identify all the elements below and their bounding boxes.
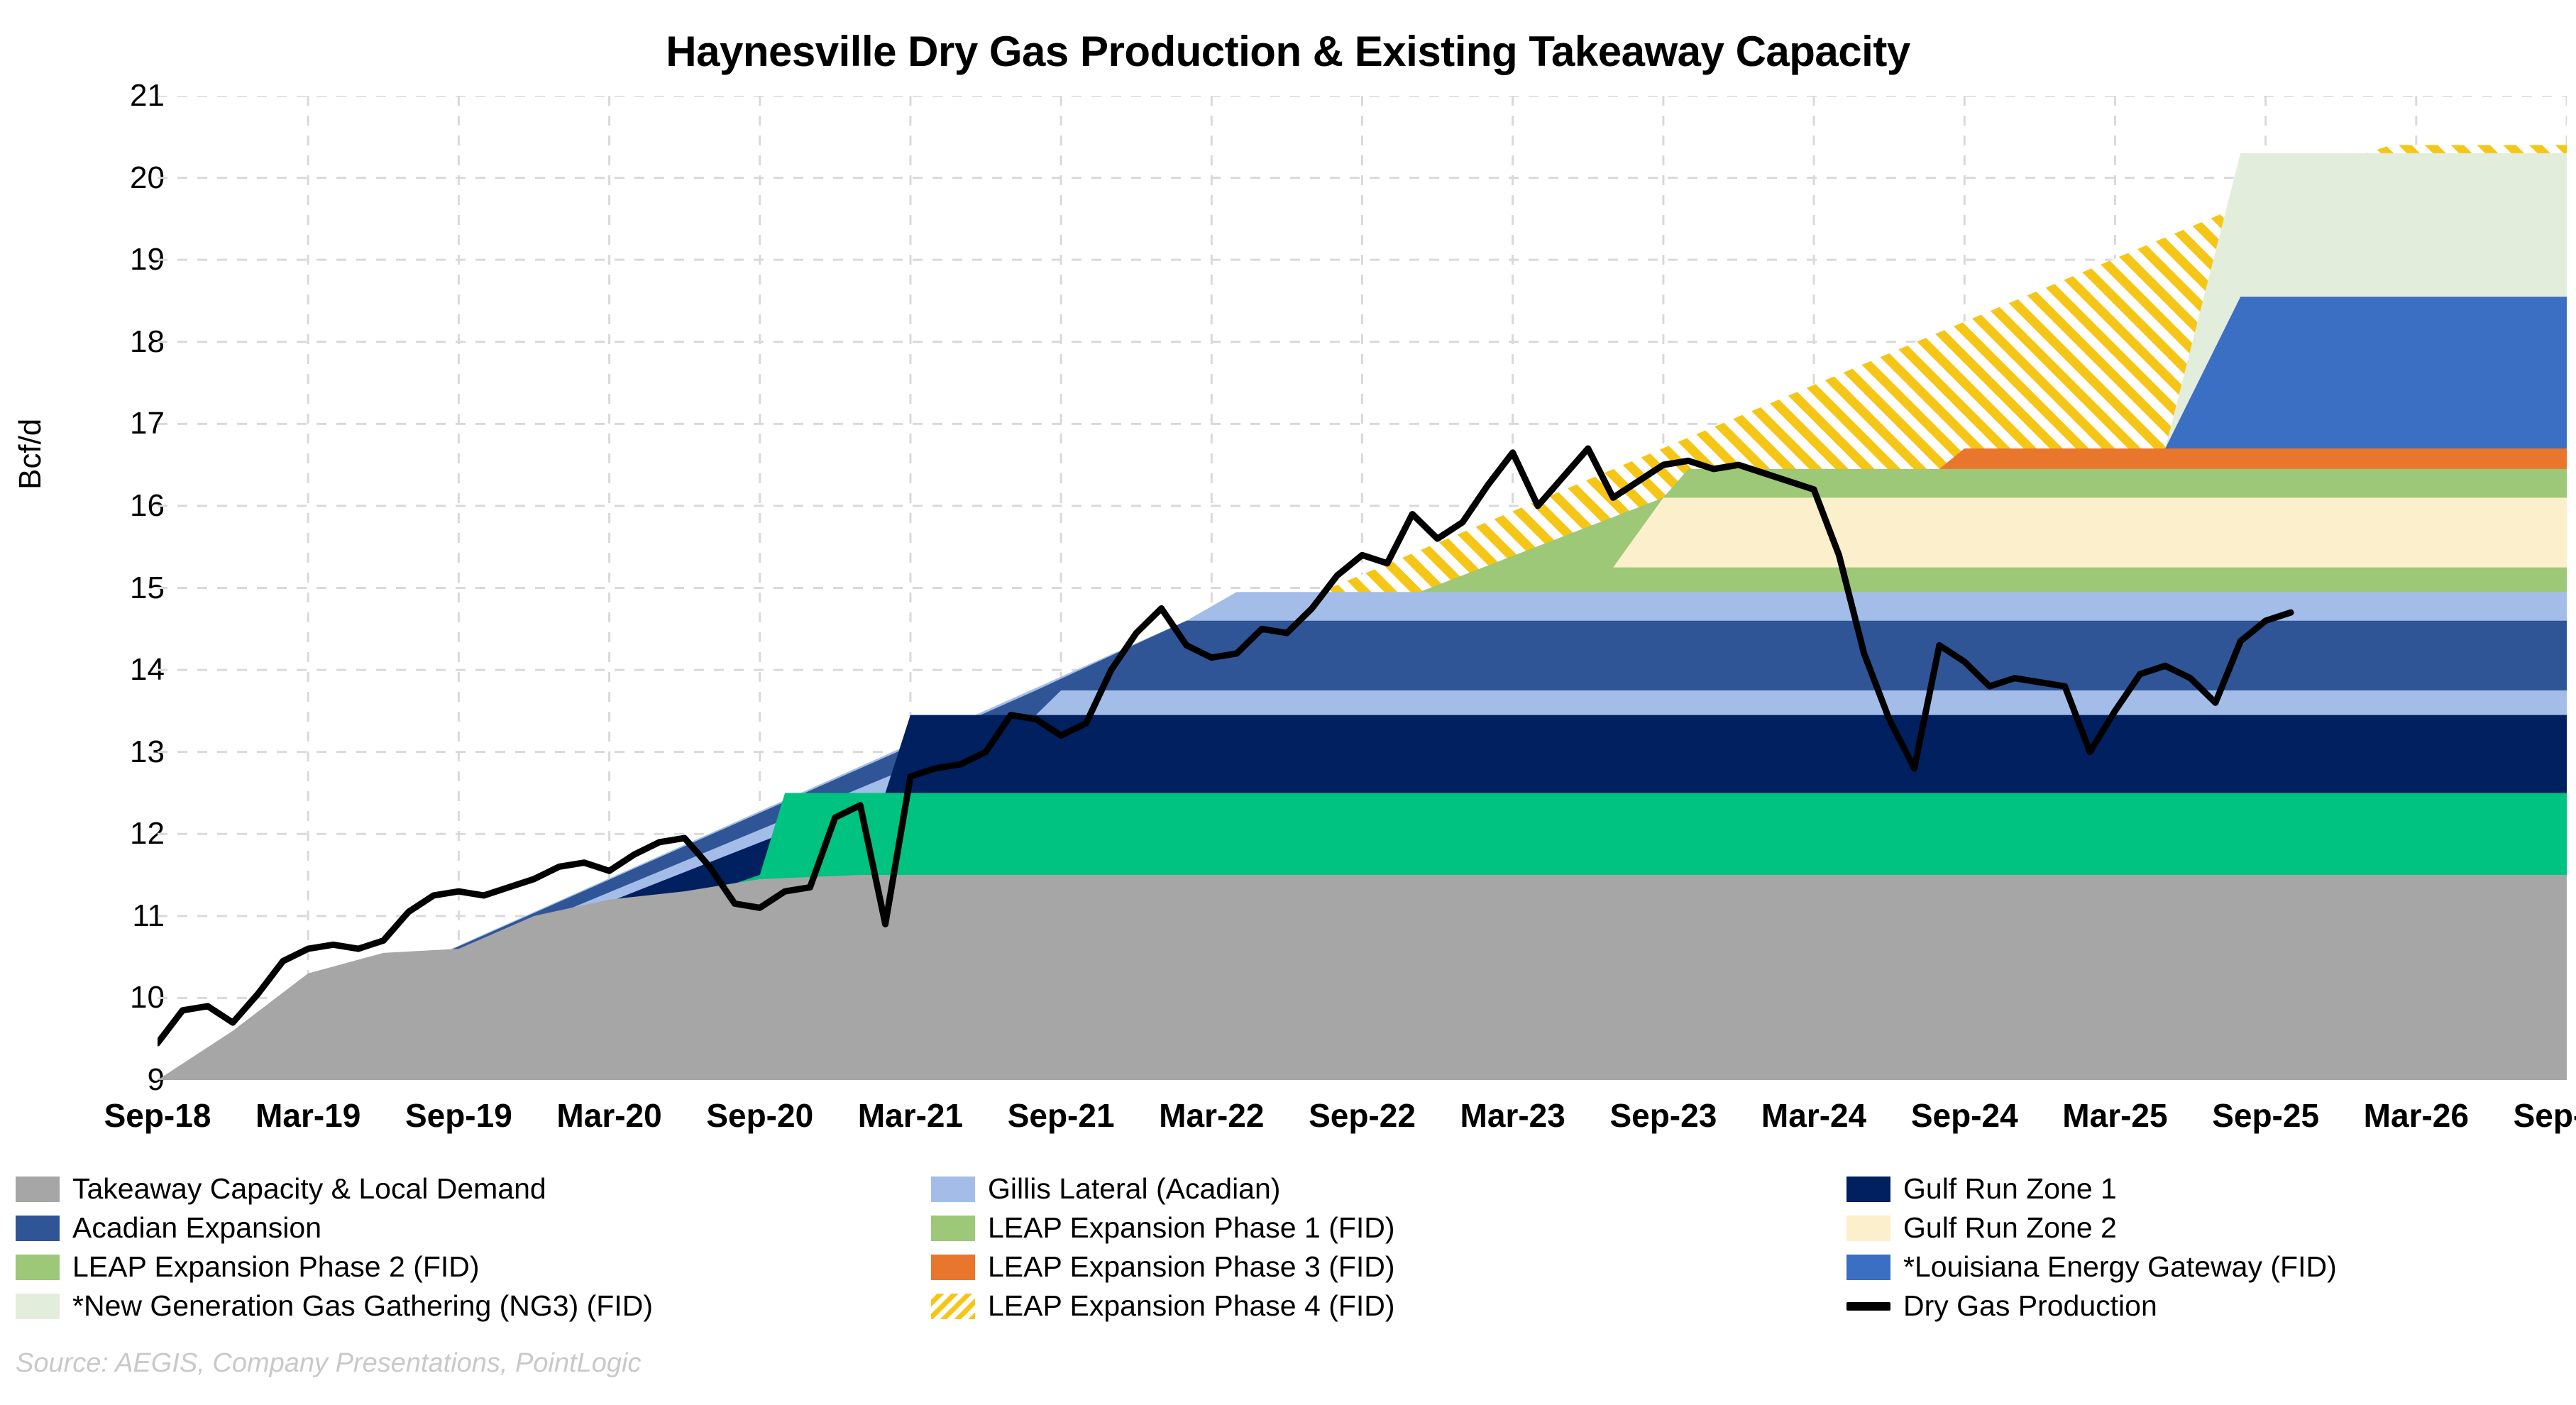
legend-label: *Louisiana Energy Gateway (FID)	[1903, 1250, 2337, 1284]
legend-item[interactable]: Gulf Run Zone 2	[1846, 1211, 2563, 1245]
y-tick-label: 14	[0, 652, 165, 688]
x-tick-label: Sep-23	[1609, 1096, 1717, 1135]
x-tick-label: Mar-21	[858, 1096, 963, 1135]
chart-legend: Takeaway Capacity & Local DemandGillis L…	[16, 1172, 2563, 1328]
legend-item[interactable]: *New Generation Gas Gathering (NG3) (FID…	[16, 1289, 931, 1323]
x-tick-label: Mar-26	[2364, 1096, 2469, 1135]
legend-swatch-leap-p2-green-icon	[16, 1255, 60, 1280]
legend-row: *New Generation Gas Gathering (NG3) (FID…	[16, 1289, 2563, 1323]
legend-swatch-gulf-run-z1-navy-icon	[1846, 1177, 1890, 1202]
y-tick-label: 16	[0, 488, 165, 524]
chart-title: Haynesville Dry Gas Production & Existin…	[0, 27, 2576, 76]
legend-item[interactable]: Acadian Expansion	[16, 1211, 931, 1245]
legend-swatch-acadian-steel-icon	[16, 1216, 60, 1241]
chart-root: Haynesville Dry Gas Production & Existin…	[0, 0, 2576, 1405]
legend-row: LEAP Expansion Phase 2 (FID)LEAP Expansi…	[16, 1250, 2563, 1284]
x-tick-label: Sep-24	[1911, 1096, 2018, 1135]
legend-swatch-leap-p4-yellow-icon	[931, 1294, 975, 1319]
legend-item[interactable]: Gillis Lateral (Acadian)	[931, 1172, 1846, 1206]
x-tick-label: Sep-25	[2212, 1096, 2319, 1135]
y-tick-label: 21	[0, 78, 165, 114]
legend-label: LEAP Expansion Phase 1 (FID)	[988, 1211, 1395, 1245]
legend-item[interactable]: LEAP Expansion Phase 1 (FID)	[931, 1211, 1846, 1245]
x-tick-label: Mar-25	[2062, 1096, 2167, 1135]
x-tick-label: Sep-19	[405, 1096, 512, 1135]
legend-label: LEAP Expansion Phase 2 (FID)	[72, 1250, 480, 1284]
legend-label: LEAP Expansion Phase 3 (FID)	[988, 1250, 1395, 1284]
legend-label: LEAP Expansion Phase 4 (FID)	[988, 1289, 1395, 1323]
stacked-areas	[158, 145, 2567, 1080]
x-tick-label: Sep-20	[706, 1096, 813, 1135]
x-tick-label: Sep-26	[2514, 1096, 2576, 1135]
legend-label: Takeaway Capacity & Local Demand	[72, 1172, 546, 1206]
y-tick-label: 18	[0, 324, 165, 360]
source-note: Source: AEGIS, Company Presentations, Po…	[16, 1348, 642, 1379]
legend-item[interactable]: LEAP Expansion Phase 2 (FID)	[16, 1250, 931, 1284]
legend-swatch-gulf-run-z2-cream-icon	[1846, 1216, 1890, 1241]
y-tick-label: 20	[0, 160, 165, 196]
legend-swatch-leap-p1-green-icon	[931, 1216, 975, 1241]
legend-label: Gulf Run Zone 1	[1903, 1172, 2117, 1206]
y-tick-label: 11	[0, 898, 165, 934]
legend-swatch-takeaway-gray-icon	[16, 1177, 60, 1202]
x-tick-label: Mar-20	[556, 1096, 661, 1135]
legend-label: Gulf Run Zone 2	[1903, 1211, 2117, 1245]
legend-item[interactable]: *Louisiana Energy Gateway (FID)	[1846, 1250, 2563, 1284]
legend-label: Acadian Expansion	[72, 1211, 321, 1245]
legend-swatch-production-line-icon	[1846, 1302, 1890, 1311]
y-tick-label: 9	[0, 1062, 165, 1098]
y-tick-label: 19	[0, 242, 165, 277]
legend-item[interactable]: Dry Gas Production	[1846, 1289, 2563, 1323]
x-tick-label: Mar-22	[1159, 1096, 1264, 1135]
x-tick-label: Mar-23	[1460, 1096, 1565, 1135]
legend-row: Acadian ExpansionLEAP Expansion Phase 1 …	[16, 1211, 2563, 1245]
x-tick-label: Sep-21	[1008, 1096, 1115, 1135]
legend-row: Takeaway Capacity & Local DemandGillis L…	[16, 1172, 2563, 1206]
y-axis-label: Bcf/d	[13, 419, 48, 490]
plot-svg	[158, 96, 2567, 1080]
legend-item[interactable]: Takeaway Capacity & Local Demand	[16, 1172, 931, 1206]
legend-label: Dry Gas Production	[1903, 1289, 2157, 1323]
legend-swatch-leg-royal-icon	[1846, 1255, 1890, 1280]
x-tick-label: Mar-19	[255, 1096, 360, 1135]
x-tick-label: Sep-18	[104, 1096, 211, 1135]
legend-item[interactable]: LEAP Expansion Phase 4 (FID)	[931, 1289, 1846, 1323]
legend-label: *New Generation Gas Gathering (NG3) (FID…	[72, 1289, 653, 1323]
legend-swatch-ng3-pale-icon	[16, 1294, 60, 1319]
legend-swatch-gillis-periwinkle-icon	[931, 1177, 975, 1202]
y-tick-label: 10	[0, 980, 165, 1015]
legend-item[interactable]: Gulf Run Zone 1	[1846, 1172, 2563, 1206]
y-tick-label: 15	[0, 571, 165, 606]
legend-item[interactable]: LEAP Expansion Phase 3 (FID)	[931, 1250, 1846, 1284]
y-tick-label: 12	[0, 816, 165, 852]
x-tick-label: Sep-22	[1309, 1096, 1416, 1135]
x-tick-label: Mar-24	[1761, 1096, 1866, 1135]
y-tick-label: 13	[0, 734, 165, 770]
legend-label: Gillis Lateral (Acadian)	[988, 1172, 1280, 1206]
legend-swatch-leap-p3-orange-icon	[931, 1255, 975, 1280]
plot-area	[158, 96, 2567, 1080]
